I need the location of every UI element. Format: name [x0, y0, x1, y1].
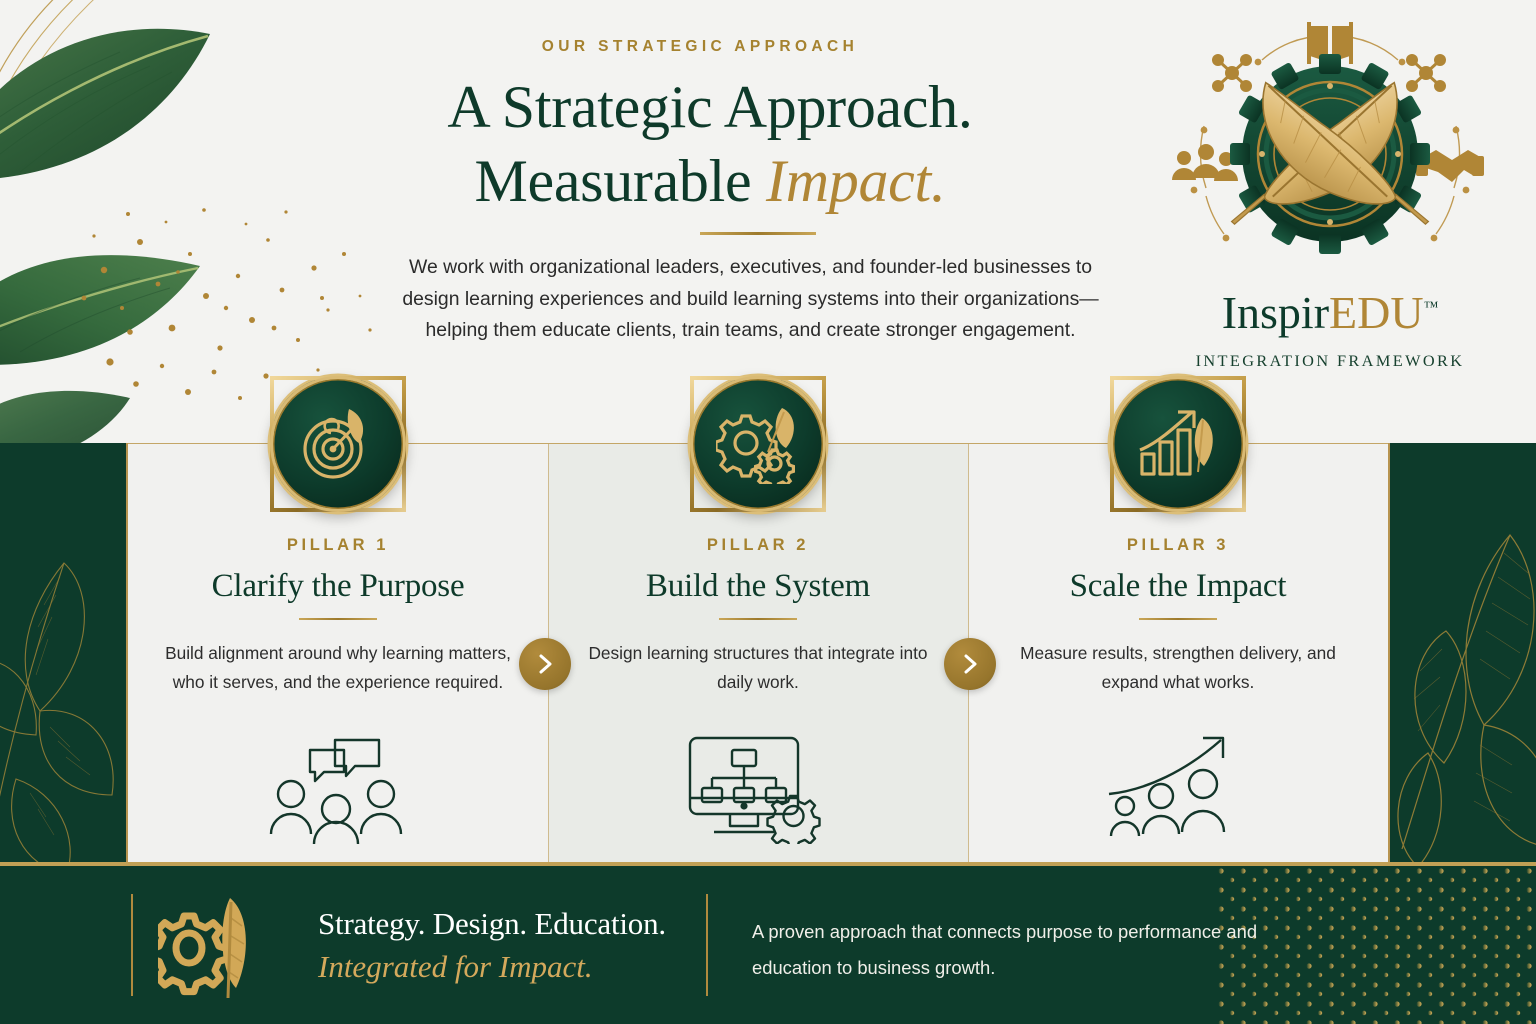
chevron-right-icon	[535, 653, 555, 675]
footer-tagline-line-1: Strategy. Design. Education.	[318, 902, 688, 945]
pillar-cards: PILLAR 1 Clarify the Purpose Build align…	[128, 443, 1388, 862]
pillar-3-medal	[1110, 376, 1246, 512]
pillar-card-1[interactable]: PILLAR 1 Clarify the Purpose Build align…	[128, 443, 548, 862]
left-ornament-panel	[0, 443, 128, 862]
footer-bar: Strategy. Design. Education. Integrated …	[0, 862, 1536, 1024]
pillar-card-3[interactable]: PILLAR 3 Scale the Impact Measure result…	[968, 443, 1388, 862]
connector-1-2[interactable]	[519, 638, 571, 690]
headline-line-1: A Strategic Approach.	[447, 74, 972, 140]
pillar-2-title: Build the System	[548, 568, 968, 605]
pillar-2-medal	[690, 376, 826, 512]
trademark-symbol: ™	[1424, 300, 1439, 316]
chevron-right-icon	[960, 653, 980, 675]
right-ornament-panel	[1388, 443, 1536, 862]
pillar-1-kicker: PILLAR 1	[128, 536, 548, 555]
growing-people-arrow-icon	[1103, 732, 1253, 844]
people-speech-bubbles-icon	[263, 736, 413, 844]
gold-leaf-linework-right	[1388, 443, 1536, 862]
headline-line-2-plain: Measurable	[474, 148, 766, 214]
footer-copy: A proven approach that connects purpose …	[752, 914, 1312, 986]
pillar-1-body: Build alignment around why learning matt…	[162, 639, 515, 697]
header-divider	[700, 232, 816, 235]
pillar-3-illustration	[1088, 726, 1268, 844]
headline-line-2-accent: Impact.	[766, 148, 946, 214]
molecule-icon	[1406, 54, 1446, 92]
pillars-band: PILLAR 1 Clarify the Purpose Build align…	[0, 443, 1536, 862]
logo-wordmark-plain: Inspir	[1222, 287, 1329, 338]
medal-ring	[690, 376, 826, 512]
monitor-orgchart-gear-icon	[684, 732, 832, 844]
pillar-1-illustration	[248, 726, 428, 844]
logo-subtitle: INTEGRATION FRAMEWORK	[1160, 351, 1500, 371]
gear-feather-icon	[158, 896, 266, 1000]
logo-emblem	[1170, 18, 1490, 286]
logo-wordmark-accent: EDU	[1329, 287, 1424, 338]
pillar-2-divider	[719, 618, 797, 620]
infographic-canvas: OUR STRATEGIC APPROACH A Strategic Appro…	[0, 0, 1536, 1024]
pillar-1-divider	[299, 618, 377, 620]
pillar-1-medal	[270, 376, 406, 512]
eyebrow-label: OUR STRATEGIC APPROACH	[330, 38, 1070, 56]
pillar-3-kicker: PILLAR 3	[968, 536, 1388, 555]
logo-wordmark: InspirEDU™	[1160, 286, 1500, 339]
pillar-2-kicker: PILLAR 2	[548, 536, 968, 555]
page-title: A Strategic Approach. Measurable Impact.	[330, 70, 1090, 218]
footer-tagline: Strategy. Design. Education. Integrated …	[318, 902, 688, 988]
pillar-2-illustration	[668, 726, 848, 844]
pillar-3-body: Measure results, strengthen delivery, an…	[1002, 639, 1355, 697]
pillar-3-title: Scale the Impact	[968, 568, 1388, 605]
pillar-card-2[interactable]: PILLAR 2 Build the System Design learnin…	[548, 443, 968, 862]
brand-logo: InspirEDU™ INTEGRATION FRAMEWORK	[1160, 18, 1500, 368]
molecule-icon	[1212, 54, 1252, 92]
pillar-3-divider	[1139, 618, 1217, 620]
gold-leaf-linework-left	[0, 443, 128, 862]
footer-divider-left	[131, 894, 133, 996]
footer-tagline-line-2: Integrated for Impact.	[318, 945, 688, 988]
footer-divider-right	[706, 894, 708, 996]
pillar-1-title: Clarify the Purpose	[128, 568, 548, 605]
intro-paragraph: We work with organizational leaders, exe…	[393, 252, 1108, 347]
pillar-2-body: Design learning structures that integrat…	[582, 639, 935, 697]
connector-2-3[interactable]	[944, 638, 996, 690]
medal-ring	[1110, 376, 1246, 512]
medal-ring	[270, 376, 406, 512]
people-icon	[1172, 144, 1238, 181]
